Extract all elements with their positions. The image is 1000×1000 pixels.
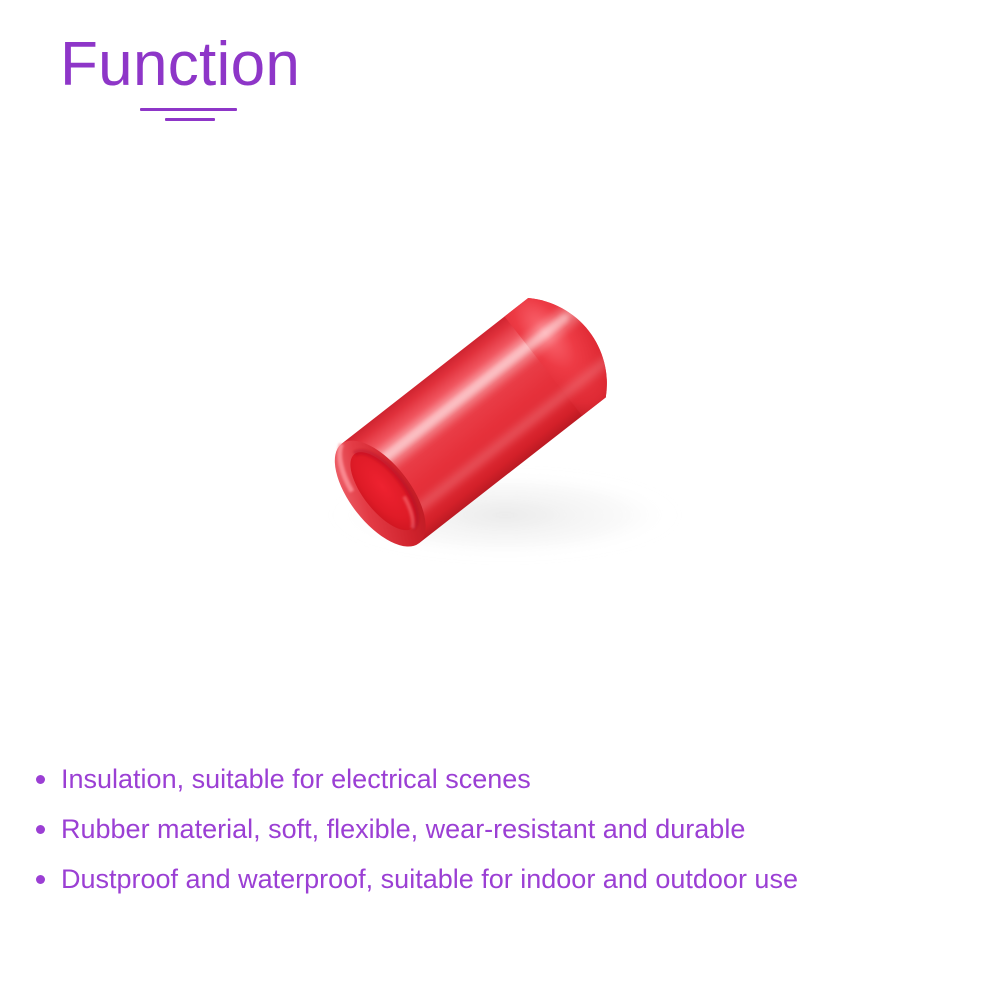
- feature-text: Rubber material, soft, flexible, wear-re…: [61, 812, 745, 846]
- title-underline-long: [140, 108, 237, 111]
- page-title: Function: [60, 34, 660, 96]
- list-item: Rubber material, soft, flexible, wear-re…: [36, 812, 976, 862]
- title-underline-short: [165, 118, 215, 121]
- rubber-end-cap-svg: [255, 185, 745, 615]
- feature-list: Insulation, suitable for electrical scen…: [36, 762, 976, 912]
- rubber-end-cap-illustration: [255, 185, 745, 615]
- bullet-icon: [36, 875, 45, 884]
- product-image: [255, 185, 745, 615]
- list-item: Dustproof and waterproof, suitable for i…: [36, 862, 976, 912]
- page-header: Function: [60, 34, 660, 134]
- bullet-icon: [36, 775, 45, 784]
- bullet-icon: [36, 825, 45, 834]
- list-item: Insulation, suitable for electrical scen…: [36, 762, 976, 812]
- feature-text: Insulation, suitable for electrical scen…: [61, 762, 531, 796]
- feature-text: Dustproof and waterproof, suitable for i…: [61, 862, 798, 896]
